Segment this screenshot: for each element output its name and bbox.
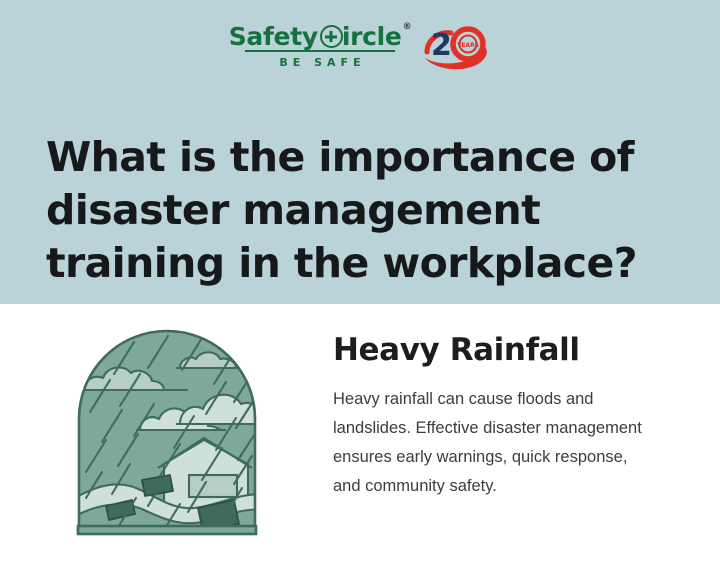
twenty-years-badge-icon: 2 YEARS	[421, 22, 491, 74]
logo-wordmark: Safetyircle®	[229, 24, 412, 49]
page-title: What is the importance of disaster manag…	[46, 131, 686, 290]
content-section: Heavy Rainfall Heavy rainfall can cause …	[0, 304, 720, 567]
registered-trademark-icon: ®	[403, 23, 412, 32]
svg-text:YEARS: YEARS	[456, 42, 479, 49]
headline-line-1: What is the importance of	[46, 131, 686, 184]
logo-word-ircle: ircle	[342, 24, 402, 49]
logo-row: Safetyircle® BE SAFE 2 YEARS	[0, 22, 720, 82]
headline-line-2: disaster management	[46, 184, 686, 237]
safety-cross-circle-icon	[320, 25, 343, 48]
logo-word-safety: Safety	[229, 24, 318, 49]
headline-line-3: training in the workplace?	[46, 237, 686, 290]
logo-tagline: BE SAFE	[274, 56, 365, 69]
infographic-page: Safetyircle® BE SAFE 2 YEARS What is the…	[0, 0, 720, 567]
section-heading: Heavy Rainfall	[333, 332, 663, 368]
section-description: Heavy rainfall can cause floods and land…	[333, 385, 649, 501]
heavy-rainfall-flood-illustration	[76, 328, 258, 536]
text-column: Heavy Rainfall Heavy rainfall can cause …	[333, 332, 663, 501]
svg-text:2: 2	[431, 28, 452, 63]
safety-circle-logo[interactable]: Safetyircle® BE SAFE	[229, 22, 412, 69]
